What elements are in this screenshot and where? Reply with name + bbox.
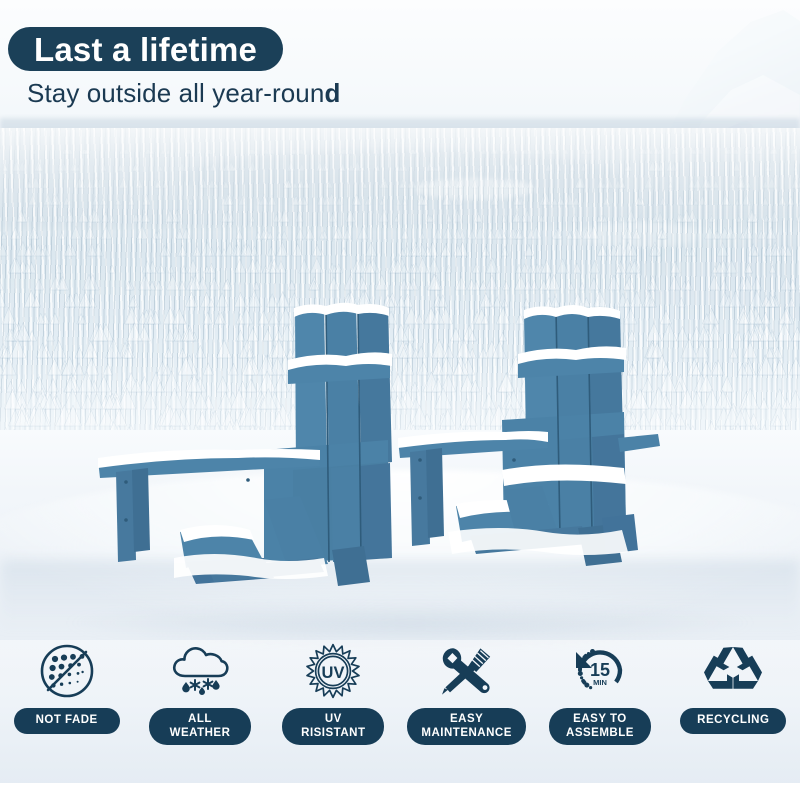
bottom-white-strip <box>0 783 800 800</box>
feature-label-easy-maintenance: EASY MAINTENANCE <box>407 708 525 745</box>
pill-line-1: RECYCLING <box>696 714 770 728</box>
no-fade-dots-icon <box>38 640 96 702</box>
pill-line-1: NOT FADE <box>30 714 104 728</box>
timer-icon-number: 15 <box>590 660 610 680</box>
feature-label-easy-assemble: EASY TO ASSEMBLE <box>549 708 651 745</box>
timer-icon-unit: MIN <box>593 678 607 687</box>
feature-uv-resistant[interactable]: UV UV RISISTANT <box>267 640 400 745</box>
pill-line-2: RISISTANT <box>296 727 370 741</box>
pill-line-1: UV <box>296 713 370 727</box>
feature-not-fade[interactable]: NOT FADE <box>0 640 133 734</box>
feature-easy-assemble[interactable]: 15 MIN EASY TO ASSEMBLE <box>533 640 666 745</box>
headline-subtitle: Stay outside all year-round <box>27 80 340 106</box>
headline-title: Last a lifetime <box>34 33 257 66</box>
feature-icon-row: NOT FADE A <box>0 640 800 760</box>
feature-label-recycling: RECYCLING <box>680 708 786 734</box>
recycling-icon <box>703 640 763 702</box>
feature-recycling[interactable]: RECYCLING <box>667 640 800 734</box>
cloud-snow-rain-icon <box>169 640 231 702</box>
feature-label-uv-resistant: UV RISISTANT <box>282 708 384 745</box>
pill-line-2: MAINTENANCE <box>421 727 511 741</box>
adirondack-chair-right <box>396 300 676 600</box>
wrench-screwdriver-icon <box>436 640 498 702</box>
forest-haze-top <box>0 128 800 248</box>
uv-sunburst-icon: UV <box>304 640 362 702</box>
promo-banner: Last a lifetime Stay outside all year-ro… <box>0 0 800 800</box>
pill-line-1: ALL <box>163 713 237 727</box>
uv-icon-text: UV <box>322 664 345 682</box>
timer-15-min-icon: 15 MIN <box>570 640 630 702</box>
pill-line-1: EASY TO <box>563 713 637 727</box>
pill-line-1: EASY <box>421 713 511 727</box>
feature-easy-maintenance[interactable]: EASY MAINTENANCE <box>400 640 533 745</box>
subtitle-text: Stay outside all year-roun <box>27 78 324 108</box>
pill-line-2: WEATHER <box>163 727 237 741</box>
feature-label-not-fade: NOT FADE <box>14 708 120 734</box>
adirondack-chair-left <box>88 300 418 600</box>
feature-all-weather[interactable]: ALL WEATHER <box>133 640 266 745</box>
headline-badge: Last a lifetime <box>8 27 283 71</box>
pill-line-2: ASSEMBLE <box>563 727 637 741</box>
subtitle-text-tail: d <box>324 78 340 108</box>
feature-label-all-weather: ALL WEATHER <box>149 708 251 745</box>
